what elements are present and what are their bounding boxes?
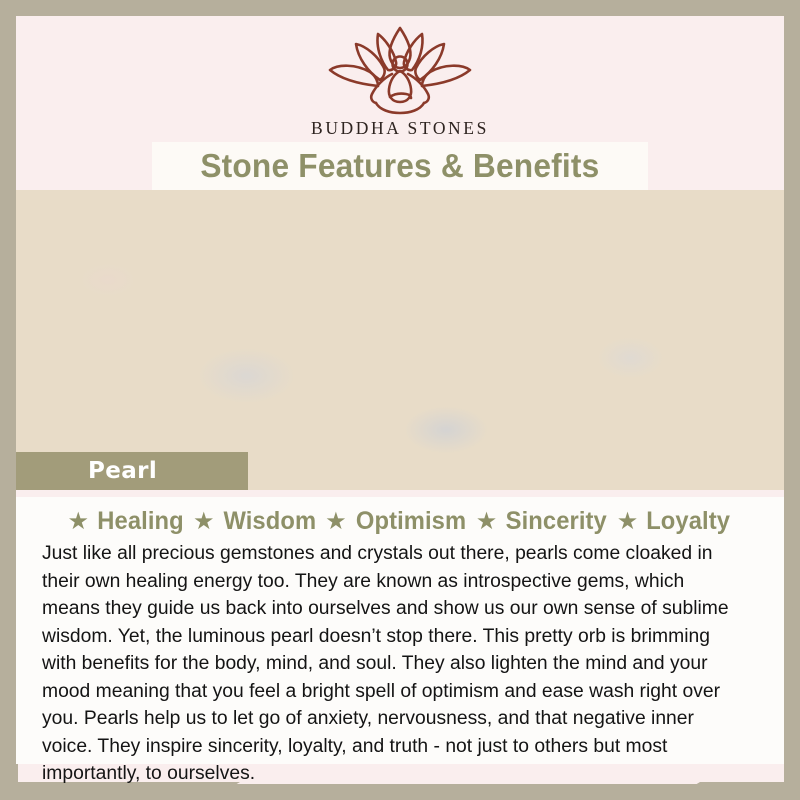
hero-image [16,190,784,490]
benefit-keyword-sincerity: ★ Sincerity [476,507,610,536]
poster-root: BUDDHA STONES Stone Features & Benefits … [0,0,800,800]
star-icon: ★ [476,510,498,534]
benefit-keyword-label: Sincerity [506,507,607,536]
stone-name-label: Pearl [88,458,157,484]
star-icon: ★ [617,510,639,534]
benefit-keyword-optimism: ★ Optimism [325,507,469,536]
benefit-keyword-label: Healing [97,507,183,536]
benefit-keyword-label: Optimism [356,507,466,536]
star-icon: ★ [193,510,215,534]
benefit-keyword-loyalty: ★ Loyalty [617,507,733,536]
benefit-keyword-label: Wisdom [223,507,316,536]
benefit-keyword-wisdom: ★ Wisdom [193,507,318,536]
benefit-keyword-list: ★ Healing ★ Wisdom ★ Optimism ★ Sincerit… [16,497,784,536]
benefit-keyword-label: Loyalty [646,507,730,536]
benefit-keyword-healing: ★ Healing [67,507,186,536]
brand-wordmark: BUDDHA STONES [311,118,489,139]
page-title-band: Stone Features & Benefits [152,142,648,190]
stone-name-tag: Pearl [16,452,248,490]
page-title: Stone Features & Benefits [200,147,599,185]
stone-description-text: Just like all precious gemstones and cry… [42,540,747,788]
star-icon: ★ [325,510,347,534]
lotus-meditation-figure-icon [316,24,484,116]
star-icon: ★ [67,510,89,534]
benefits-content-card: ★ Healing ★ Wisdom ★ Optimism ★ Sincerit… [16,497,784,764]
pearl-iridescence-overlay [16,190,784,490]
